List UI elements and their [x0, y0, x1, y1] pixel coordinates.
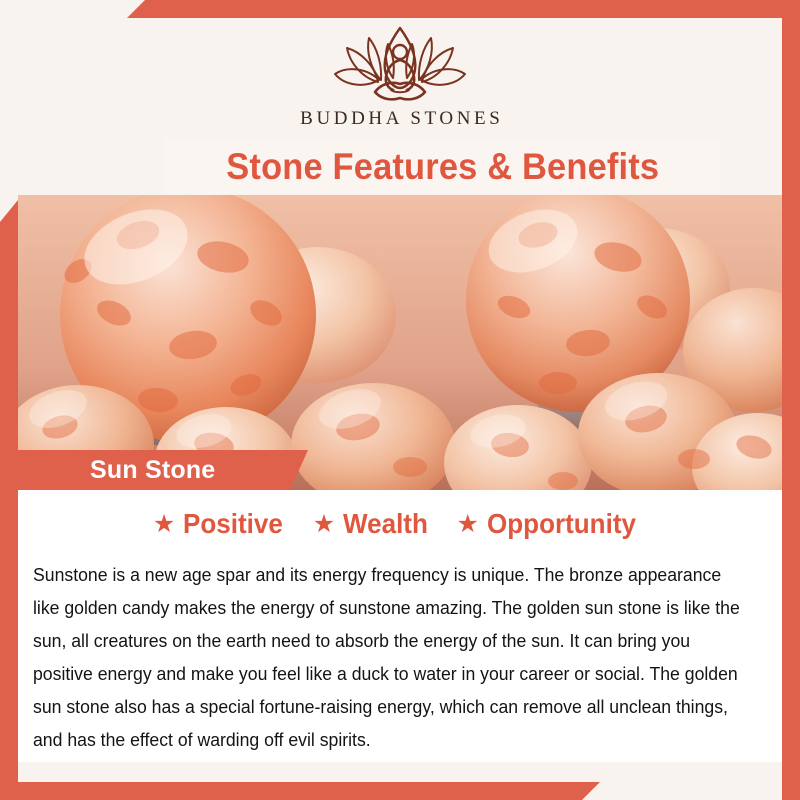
benefit-label: Opportunity: [487, 508, 636, 540]
frame-top-bar: [0, 0, 800, 18]
benefit-item-positive: ★ Positive: [153, 508, 291, 540]
star-icon: ★: [456, 512, 478, 537]
benefit-item-opportunity: ★ Opportunity: [456, 508, 647, 540]
stone-name-label: Sun Stone: [90, 456, 215, 485]
star-icon: ★: [153, 512, 175, 537]
star-icon: ★: [313, 512, 335, 537]
description-text: Sunstone is a new age spar and its energ…: [33, 558, 751, 756]
product-photo: [18, 195, 782, 490]
benefits-row: ★ Positive ★ Wealth ★ Opportunity: [18, 508, 782, 540]
frame-bottom-bar: [0, 782, 800, 800]
brand-name: BUDDHA STONES: [0, 108, 800, 130]
lotus-meditation-figure-icon: [325, 22, 475, 106]
benefit-label: Positive: [183, 508, 283, 540]
brand-header: BUDDHA STONES: [0, 22, 800, 130]
frame-left-bar: [0, 200, 18, 800]
page-title: Stone Features & Benefits: [226, 146, 659, 188]
headline-banner: Stone Features & Benefits: [165, 139, 720, 194]
infographic-page: BUDDHA STONES: [0, 0, 800, 800]
content-card: ★ Positive ★ Wealth ★ Opportunity Sunsto…: [18, 490, 782, 762]
benefit-label: Wealth: [343, 508, 428, 540]
benefit-item-wealth: ★ Wealth: [313, 508, 435, 540]
stone-name-ribbon: Sun Stone: [18, 450, 308, 490]
